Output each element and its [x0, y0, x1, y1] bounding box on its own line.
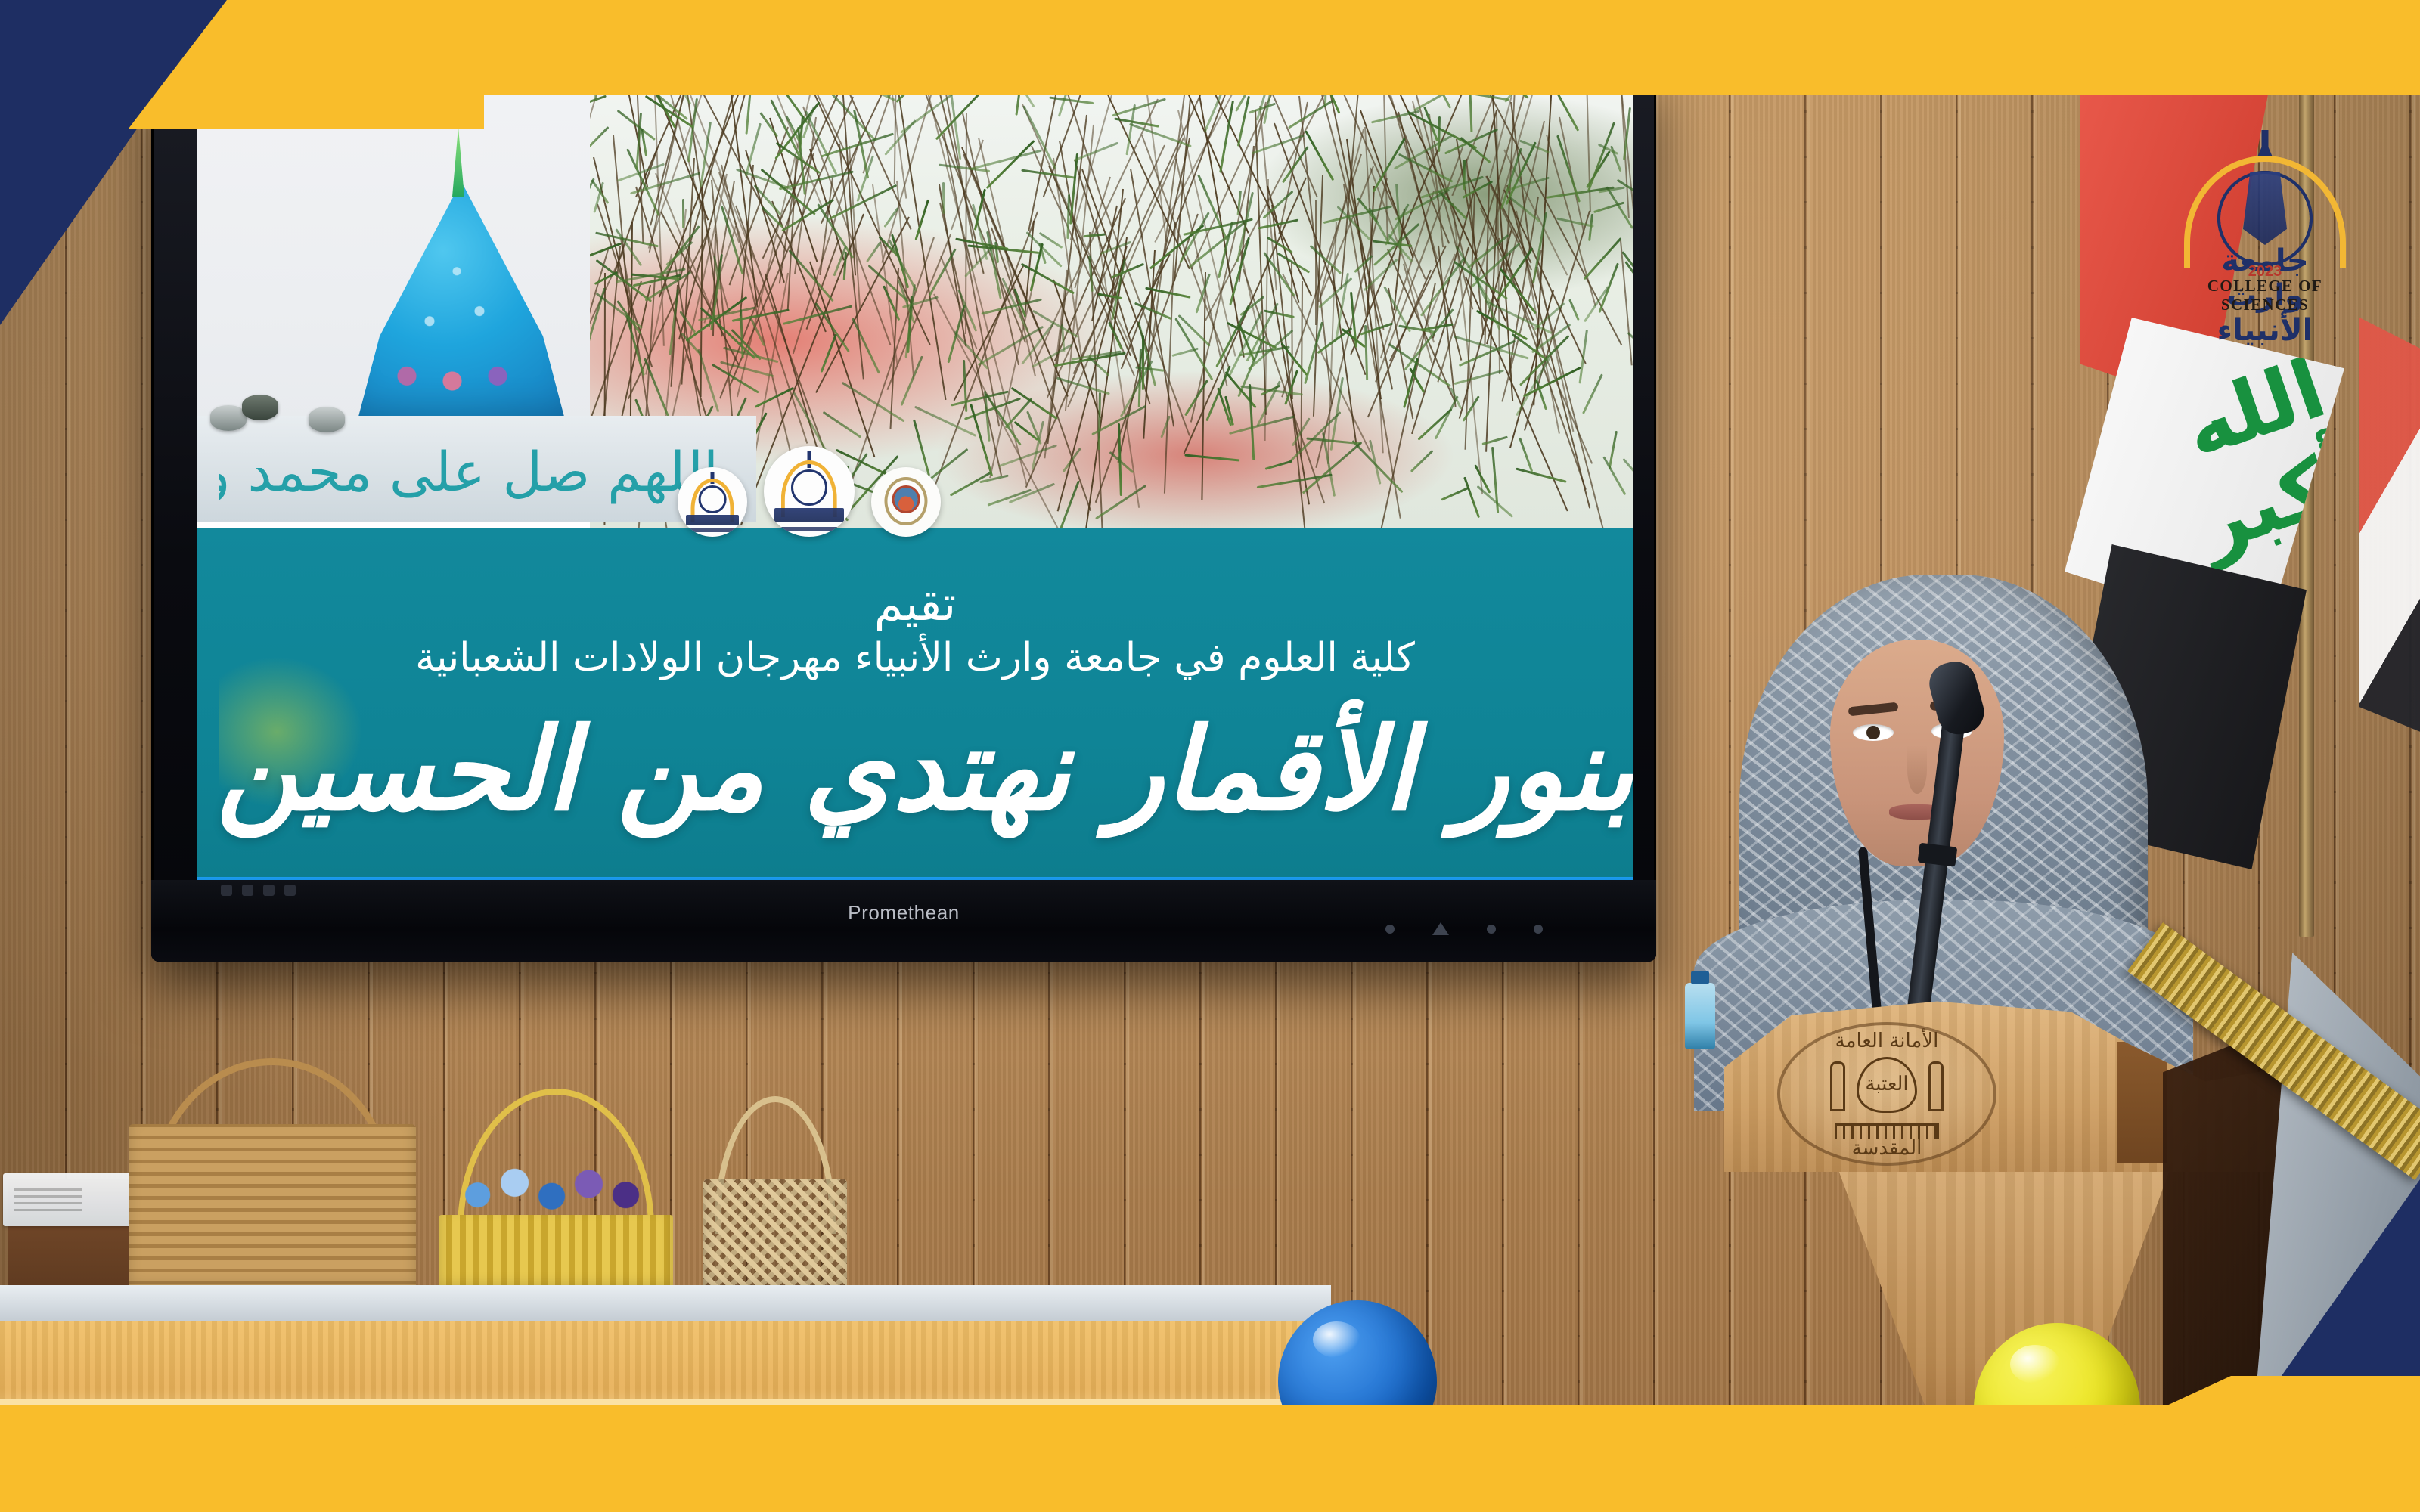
slide-subtitle: كلية العلوم في جامعة وارث الأنبياء مهرجا…: [197, 635, 1633, 680]
display-sensor-row: [1385, 922, 1543, 935]
promethean-interactive-display[interactable]: اللهم صل على محمد وآل محمد تقيم كلية الع…: [151, 70, 1656, 962]
eye-left: [1853, 724, 1894, 741]
slide-wall-inscription: اللهم صل على محمد وآل محمد: [219, 434, 718, 510]
woven-lattice-basket: [703, 1096, 847, 1293]
display-control-buttons[interactable]: [221, 885, 296, 896]
podium-seal-bottom-text: المقدسة: [1780, 1137, 1993, 1160]
slide-seal-row: [650, 446, 968, 537]
slide-headline-verb: تقيم: [197, 576, 1633, 631]
table-edge: [0, 1285, 1331, 1321]
podium-wood-inlay: [2117, 1042, 2167, 1163]
watermark-subtitle: COLLEGE OF SCIENCES: [2170, 277, 2359, 314]
partner-organization-seal-right: [871, 467, 941, 537]
display-table-items: [0, 1043, 945, 1293]
holy-shrine-seal: الأمانة العامة المقدسة: [1777, 1022, 1996, 1166]
university-seal-left: [678, 467, 747, 537]
speaker-face: [1830, 640, 2004, 866]
scene-photo: الله أكبر اللهم صل على محمد وآل محمد: [0, 0, 2420, 1512]
display-brand-label: Promethean: [848, 901, 960, 925]
podium-seal-top-text: الأمانة العامة: [1780, 1030, 1993, 1052]
gold-decorative-basket: [439, 1089, 673, 1293]
water-bottle: [1685, 983, 1715, 1049]
presentation-slide: اللهم صل على محمد وآل محمد تقيم كلية الع…: [197, 38, 1633, 900]
wrapped-candies: [453, 1158, 659, 1219]
secondary-flag: [2359, 318, 2420, 741]
display-bezel-bottom: Promethean: [151, 880, 1656, 962]
slide-loudspeakers-icon: [210, 393, 354, 438]
shrine-icon: [1830, 1057, 1944, 1139]
college-of-sciences-watermark: جامعة وارث الأنبياء 2023 COLLEGE OF SCIE…: [2170, 129, 2359, 302]
wicker-basket-large: [129, 1058, 416, 1293]
college-of-sciences-seal-center: [764, 446, 855, 537]
slide-calligraphy-title: بنور الأقمار نهتدي من الحسين الى المهدي: [197, 703, 1633, 837]
